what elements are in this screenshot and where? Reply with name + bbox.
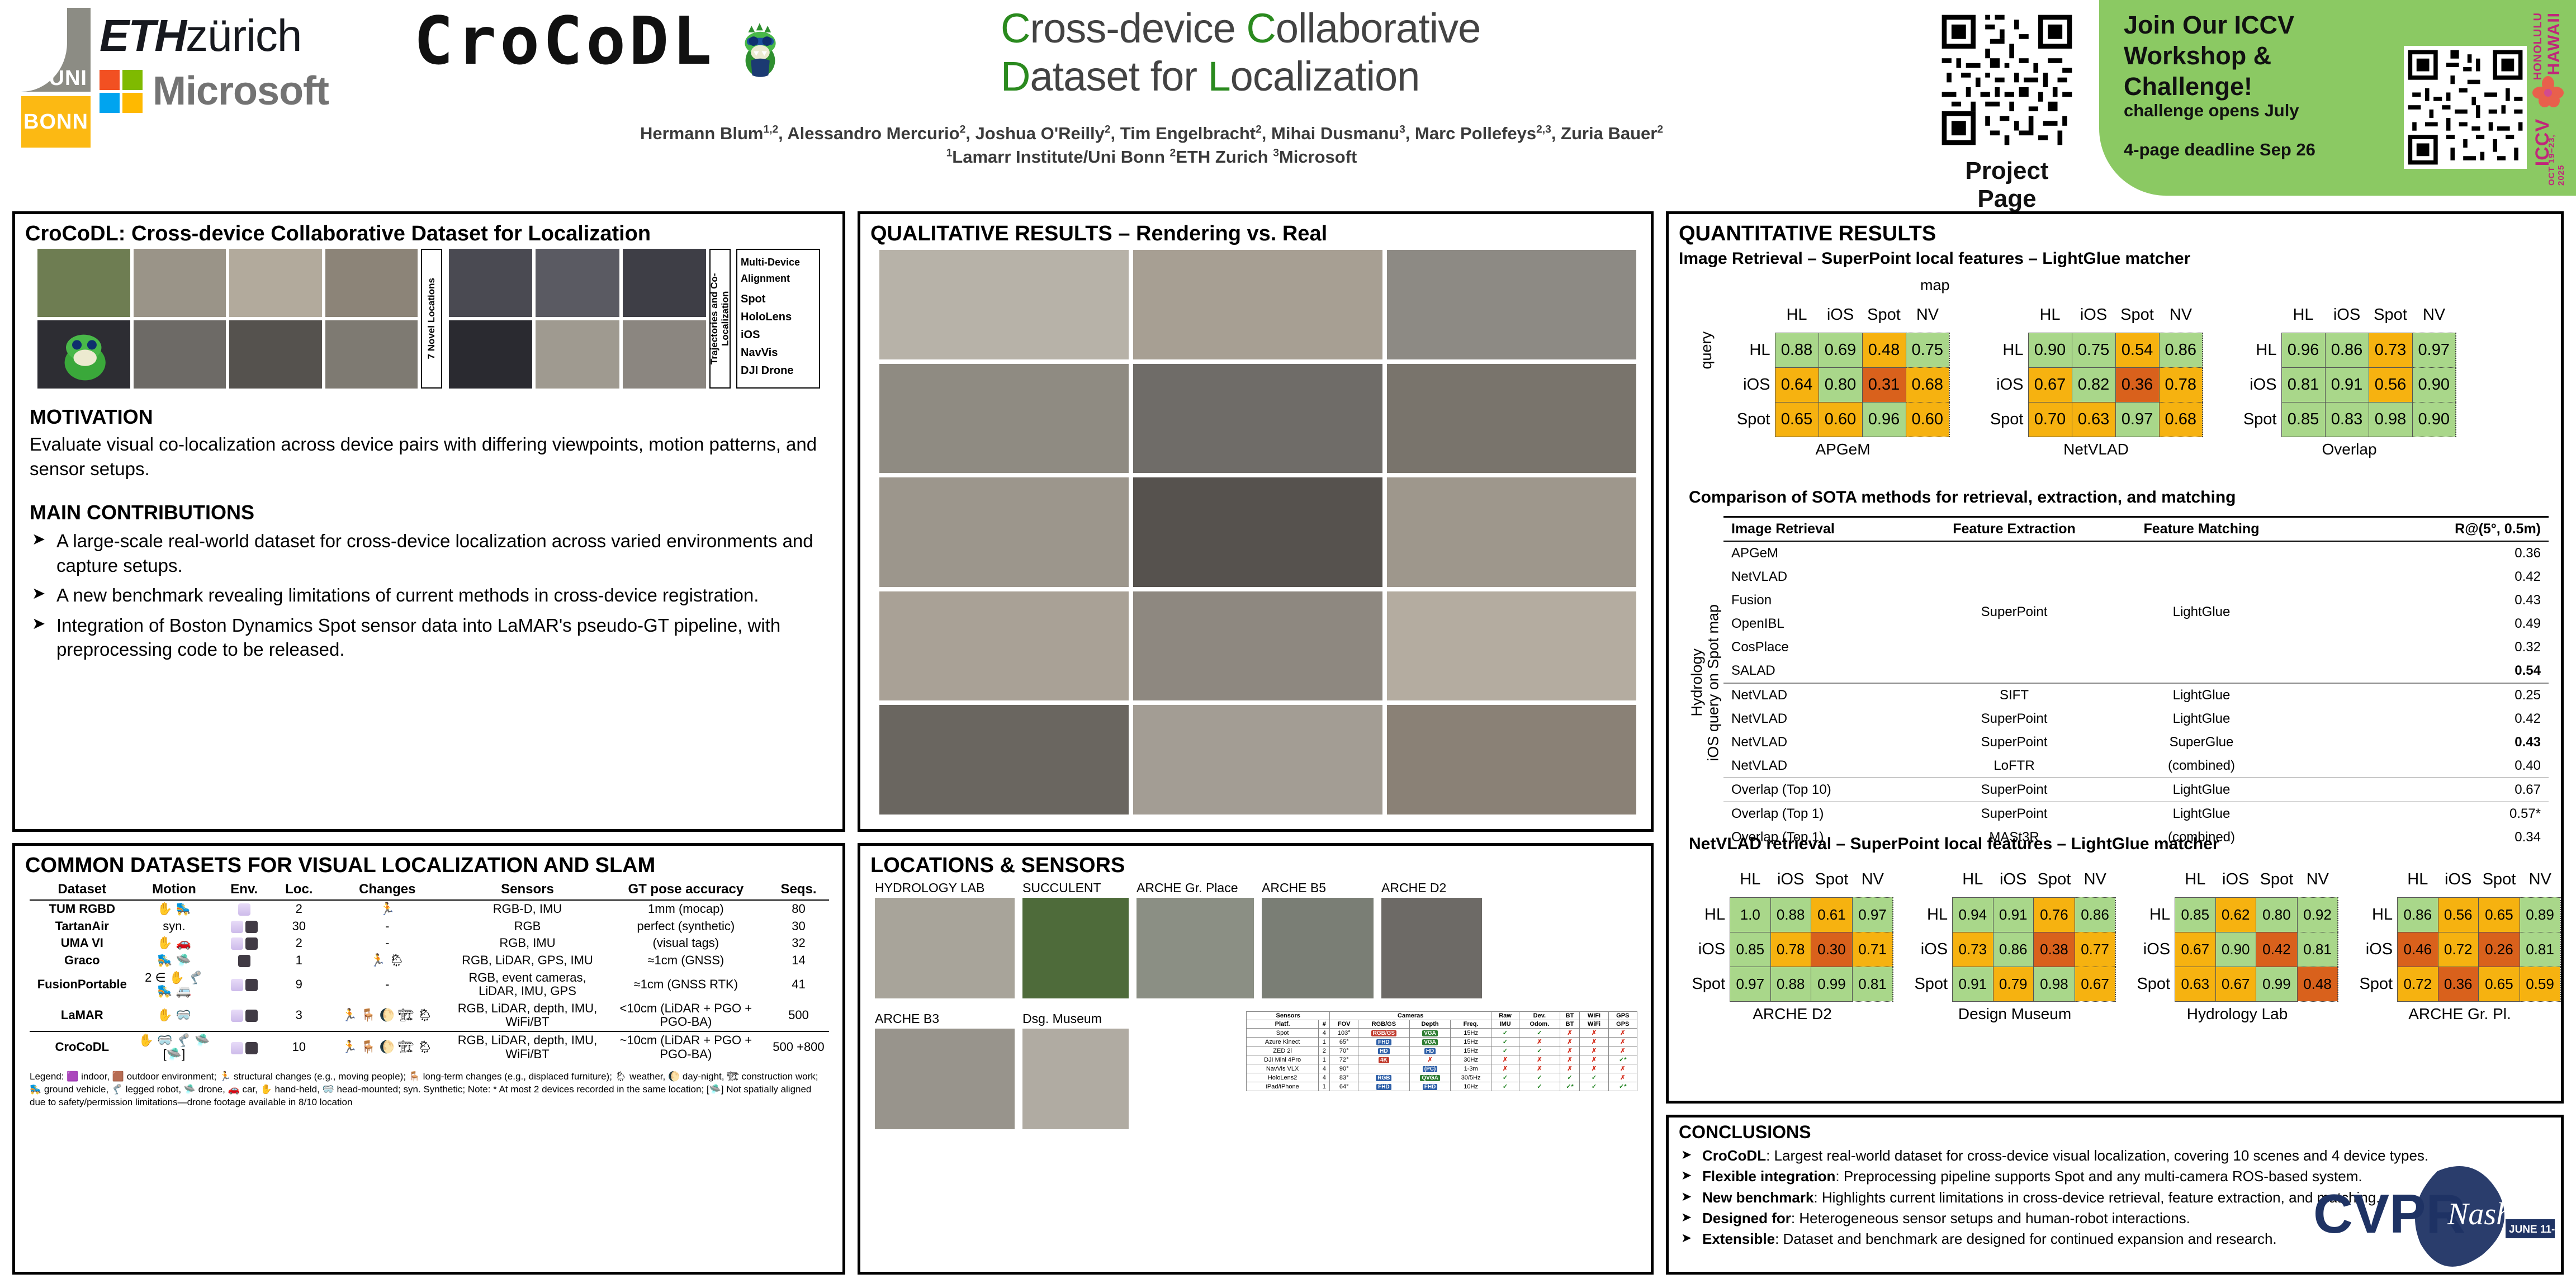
heatmap-cell: 0.85 <box>2281 402 2325 437</box>
iccv-logo-badge: HONOLULU HAWAII ICCV OCT 19–23, 2025 <box>2523 12 2568 186</box>
cell-rgbgs <box>1358 1064 1409 1073</box>
heatmap-cell: 0.94 <box>1953 897 1993 932</box>
cell-gps: ✓* <box>1608 1082 1637 1091</box>
render-vs-real-image <box>1133 477 1382 587</box>
heatmap-cell: 0.86 <box>2075 897 2115 932</box>
cell-image-retrieval: SALAD <box>1723 659 1919 683</box>
cell-dataset: FusionPortable <box>30 969 135 1000</box>
heatmap-cell: 0.97 <box>1852 897 1893 932</box>
heatmap-cell: 0.83 <box>2325 402 2369 437</box>
cell-freq: 10Hz <box>1451 1082 1491 1091</box>
poster-header: UNI BONN ETHzürich Microsoft CroCoDL <box>0 0 2576 206</box>
heatmap-row-header: HL <box>1989 333 2028 367</box>
cell-wifi: ✗ <box>1580 1046 1608 1055</box>
heatmap-cell: 0.36 <box>2438 967 2478 1001</box>
heatmap-cell: 0.68 <box>2159 402 2203 437</box>
heatmap-cell: 0.78 <box>2159 367 2203 402</box>
group-bt: BT <box>1560 1012 1580 1020</box>
cell-wifi: ✓ <box>1580 1082 1608 1091</box>
cell-env <box>214 900 274 918</box>
heatmap-row: Spot0.700.630.970.68 <box>1989 402 2203 437</box>
cell-count: 4 <box>1319 1064 1330 1073</box>
overview-panel: CroCoDL: Cross-device Collaborative Data… <box>12 211 845 832</box>
cell-loc: 30 <box>274 918 323 935</box>
cell-gps: ✗ <box>1608 1064 1637 1073</box>
heatmap-col-header: HL <box>2281 298 2325 333</box>
cell-changes: - <box>323 918 451 935</box>
cell-gps: ✓* <box>1608 1055 1637 1064</box>
heatmap-cell: 0.62 <box>2215 897 2256 932</box>
render-vs-real-image <box>879 250 1129 359</box>
col-seqs: Seqs. <box>768 879 829 900</box>
heatmap-cell: 0.97 <box>2115 402 2159 437</box>
heatmap-col-header: NV <box>2412 298 2456 333</box>
sota-table-row-label: HydrologyiOS query on Spot map <box>1689 604 1722 761</box>
render-vs-real-image <box>1133 364 1382 473</box>
heatmap-map-axis-label: map <box>1920 277 2546 294</box>
col-platf: Platf. <box>1247 1020 1319 1029</box>
heatmap-row: iOS0.730.860.380.77 <box>1914 932 2115 967</box>
iccv-badge-city: HONOLULU <box>2532 12 2545 80</box>
cell-fov: 64° <box>1330 1082 1358 1091</box>
heatmap-cell: 0.31 <box>1862 367 1906 402</box>
heatmap-cell: 0.67 <box>2175 932 2215 967</box>
retrieval-heatmap-row: HLiOSSpotNVHL0.880.690.480.75iOS0.640.80… <box>1736 298 2456 458</box>
cell-wifi: ✗ <box>1580 1064 1608 1073</box>
heatmap-cell: 0.64 <box>1775 367 1819 402</box>
cell-score: 0.49 <box>2294 612 2549 636</box>
table-row: iPad/iPhone164°FHDFHD10Hz✓✓✓*✓✓* <box>1247 1082 1637 1091</box>
cell-image-retrieval: Fusion <box>1723 589 1919 612</box>
heatmap-cell: 0.99 <box>2256 967 2297 1001</box>
cell-imu: ✓ <box>1491 1082 1519 1091</box>
overview-side-label-trajectories-text: Trajectories and Co-Localization <box>709 250 731 387</box>
heatmap-row-header: iOS <box>1989 367 2028 402</box>
location-card: SUCCULENT <box>1022 880 1129 998</box>
heatmap-cell: 0.91 <box>1953 967 1993 1001</box>
heatmap-col-header: HL <box>1730 863 1770 897</box>
cell-freq: 15Hz <box>1451 1029 1491 1038</box>
sota-header-row: Image Retrieval Feature Extraction Featu… <box>1723 517 2549 542</box>
iccv-heading: Join Our ICCV Workshop & Challenge! <box>2124 10 2403 102</box>
locations-panel: LOCATIONS & SENSORS HYDROLOGY LAB SUCCUL… <box>858 843 1654 1275</box>
crocodile-mascot-icon <box>727 12 794 79</box>
table-row: FusionPortable 2 ∈ ✋ 🦿 🛼 🚐 9 - RGB, even… <box>30 969 829 1000</box>
iccv-badge-date: OCT 19–23, 2025 <box>2547 120 2566 186</box>
heatmap-cell: 0.90 <box>2028 333 2072 367</box>
cell-count: 1 <box>1319 1038 1330 1046</box>
cell-depth: FHD <box>1409 1082 1451 1091</box>
heatmap-cell: 0.56 <box>2369 367 2412 402</box>
device-legend-item: DJI Drone <box>741 362 816 380</box>
cell-image-retrieval: OpenIBL <box>1723 612 1919 636</box>
cell-odom: ✗ <box>1519 1064 1560 1073</box>
heatmap-row-header: iOS <box>2136 932 2175 967</box>
cell-gps: ✗ <box>1608 1073 1637 1082</box>
cell-imu: ✗ <box>1491 1055 1519 1064</box>
cell-sensors: RGB, event cameras, LiDAR, IMU, GPS <box>451 969 603 1000</box>
cell-motion: ✋ 🚗 <box>135 935 214 952</box>
cell-fov: 70° <box>1330 1046 1358 1055</box>
col-count: # <box>1319 1020 1330 1029</box>
col-motion: Motion <box>135 879 214 900</box>
heatmap-col-header: Spot <box>2369 298 2412 333</box>
heatmap-cell: 0.59 <box>2520 967 2560 1001</box>
render-vs-real-image <box>1133 591 1382 701</box>
heatmap-row: iOS0.670.900.420.81 <box>2136 932 2338 967</box>
cell-count: 2 <box>1319 1046 1330 1055</box>
cell-gps: ✗ <box>1608 1046 1637 1055</box>
crocodl-acronym: CroCoDL <box>414 4 978 77</box>
cell-fov: 65° <box>1330 1038 1358 1046</box>
motivation-text: Evaluate visual co-localization across d… <box>30 432 829 481</box>
cell-score: 0.40 <box>2294 754 2549 778</box>
heatmap-row: HL0.850.620.800.92 <box>2136 897 2338 932</box>
cvpr-logo: CVPR Nashville JUNE 11-15, 2025 <box>2309 1149 2560 1280</box>
col-feature-matching: Feature Matching <box>2109 517 2294 542</box>
heatmap-cell: 0.81 <box>2297 932 2338 967</box>
cell-gt: 1mm (mocap) <box>604 900 768 918</box>
crocodl-logotype: CroCoDL <box>414 4 978 77</box>
table-row: NetVLADSuperPointSuperGlue0.43 <box>1723 731 2549 754</box>
cell-rgbgs: RGB <box>1358 1073 1409 1082</box>
heatmap-caption: Hydrology Lab <box>2136 1005 2338 1023</box>
cell-fov: 90° <box>1330 1064 1358 1073</box>
location-card: HYDROLOGY LAB <box>875 880 1015 998</box>
cell-image-retrieval: NetVLAD <box>1723 565 1919 589</box>
sensor-table: Sensors Cameras Raw Dev. BT WiFi GPS Pla… <box>1246 1011 1637 1091</box>
location-image <box>875 898 1015 998</box>
cell-platform: Azure Kinect <box>1247 1038 1319 1046</box>
cell-motion: syn. <box>135 918 214 935</box>
heatmap-row: HL0.900.750.540.86 <box>1989 333 2203 367</box>
col-changes: Changes <box>323 879 451 900</box>
heatmap-row-header: HL <box>1691 897 1730 932</box>
cell-freq: 30/5Hz <box>1451 1073 1491 1082</box>
eth-logo-city: zürich <box>186 11 301 60</box>
cell-freq: 30Hz <box>1451 1055 1491 1064</box>
location-image <box>1262 898 1374 998</box>
project-page-label: Project Page <box>1937 157 2077 213</box>
heatmap-cell: 0.97 <box>1730 967 1770 1001</box>
cell-gt: ≈1cm (GNSS) <box>604 952 768 969</box>
microsoft-logo: Microsoft <box>100 68 329 114</box>
heatmap-col-header: HL <box>1775 298 1819 333</box>
cell-count: 1 <box>1319 1055 1330 1064</box>
col-bt: BT <box>1560 1020 1580 1029</box>
thumbnail-image <box>134 249 226 317</box>
heatmap-col-header: NV <box>2159 298 2203 333</box>
table-row: ZED 2i270°HDHD15Hz✓✓✗✗✗ <box>1247 1046 1637 1055</box>
cell-count: 1 <box>1319 1082 1330 1091</box>
location-image <box>1022 1029 1129 1129</box>
uni-bonn-uni-text: UNI <box>49 67 87 91</box>
heatmap-row: HL0.960.860.730.97 <box>2242 333 2456 367</box>
cell-freq: 15Hz <box>1451 1038 1491 1046</box>
heatmap-row: Spot0.970.880.990.81 <box>1691 967 1893 1001</box>
heatmap-cell: 0.90 <box>2215 932 2256 967</box>
heatmap-cell: 0.46 <box>2398 932 2438 967</box>
heatmap-hydrology-lab: HLiOSSpotNVHL0.850.620.800.92iOS0.670.90… <box>2136 863 2338 1023</box>
quantitative-subtitle-1: Image Retrieval – SuperPoint local featu… <box>1679 249 2561 268</box>
cell-freq: 15Hz <box>1451 1046 1491 1055</box>
iccv-workshop-qr-icon[interactable] <box>2404 46 2527 169</box>
heatmap-cell: 0.56 <box>2438 897 2478 932</box>
cell-env <box>214 1000 274 1031</box>
heatmap-row: Spot0.650.600.960.60 <box>1736 402 1949 437</box>
cell-motion: ✋ 🥽 🦿 🛸 [🛸] <box>135 1031 214 1063</box>
hibiscus-flower-icon <box>2531 75 2565 108</box>
heatmap-col-header: NV <box>1852 863 1893 897</box>
cell-feature-matching: LightGlue <box>2109 707 2294 731</box>
overview-side-label-locations: 7 Novel Locations <box>421 249 442 389</box>
cell-odom: ✓ <box>1519 1082 1560 1091</box>
table-row: TUM RGBD ✋ 🛼 2 🏃 RGB-D, IMU 1mm (mocap) … <box>30 900 829 918</box>
table-row: Graco 🛼 🛸 1 🏃 🌦 RGB, LiDAR, GPS, IMU ≈1c… <box>30 952 829 969</box>
cell-fov: 103° <box>1330 1029 1358 1038</box>
heatmap-row-header: Spot <box>1691 967 1730 1001</box>
render-vs-real-image <box>1387 705 1636 815</box>
cell-seqs: 14 <box>768 952 829 969</box>
heatmap-row: HL0.940.910.760.86 <box>1914 897 2115 932</box>
thumbnail-image <box>536 320 619 389</box>
table-row: NetVLADLoFTR(combined)0.40 <box>1723 754 2549 778</box>
cell-rgbgs: HD <box>1358 1046 1409 1055</box>
table-row: Overlap (Top 1)SuperPointLightGlue0.57* <box>1723 802 2549 826</box>
microsoft-squares-icon <box>100 70 143 113</box>
cell-feature-extraction: SuperPoint <box>1919 778 2109 802</box>
cell-loc: 3 <box>274 1000 323 1031</box>
heatmap-row-header: Spot <box>2359 967 2398 1001</box>
cell-sensors: RGB, LiDAR, depth, IMU, WiFi/BT <box>451 1031 603 1063</box>
heatmap-row: Spot0.850.830.980.90 <box>2242 402 2456 437</box>
thumbnail-image <box>449 320 532 389</box>
cell-feature-extraction: SIFT <box>1919 683 2109 707</box>
heatmap-col-header: iOS <box>1770 863 1811 897</box>
cell-bt: ✓* <box>1560 1082 1580 1091</box>
cell-changes: 🏃 🪑 🌔 🏗 🌦 <box>323 1000 451 1031</box>
heatmap-cell: 0.86 <box>2325 333 2369 367</box>
cell-image-retrieval: Overlap (Top 1) <box>1723 802 1919 826</box>
heatmap-cell: 0.48 <box>1862 333 1906 367</box>
heatmap-col-header: HL <box>2398 863 2438 897</box>
contributions-list: A large-scale real-world dataset for cro… <box>30 529 829 662</box>
thumbnail-image <box>229 249 322 317</box>
overview-device-legend: Multi-Device Alignment Spot HoloLens iOS… <box>736 249 820 389</box>
poster-title: Cross-device Collaborative Dataset for L… <box>1001 4 1856 101</box>
cell-loc: 2 <box>274 900 323 918</box>
cell-rgbgs: RGB/GS <box>1358 1029 1409 1038</box>
uni-bonn-logo: UNI BONN <box>21 8 91 148</box>
cell-motion: ✋ 🥽 <box>135 1000 214 1031</box>
heatmap-caption: NetVLAD <box>1989 441 2203 458</box>
heatmap-cell: 0.54 <box>2115 333 2159 367</box>
cell-seqs: 30 <box>768 918 829 935</box>
heatmap-col-header: NV <box>1906 298 1949 333</box>
location-card: ARCHE D2 <box>1381 880 1482 998</box>
render-vs-real-image <box>879 364 1129 473</box>
heatmap-col-header: iOS <box>1819 298 1862 333</box>
table-row: LaMAR ✋ 🥽 3 🏃 🪑 🌔 🏗 🌦 RGB, LiDAR, depth,… <box>30 1000 829 1031</box>
cell-imu: ✗ <box>1491 1064 1519 1073</box>
table-row: NetVLADSIFTLightGlue0.25 <box>1723 683 2549 707</box>
render-vs-real-image <box>1133 250 1382 359</box>
location-image <box>875 1029 1015 1129</box>
cell-changes: - <box>323 969 451 1000</box>
qualitative-panel: QUALITATIVE RESULTS – Rendering vs. Real <box>858 211 1654 832</box>
cell-changes: 🏃 <box>323 900 451 918</box>
heatmap-cell: 0.38 <box>2033 932 2075 967</box>
cell-platform: Spot <box>1247 1029 1319 1038</box>
col-gps: GPS <box>1608 1020 1637 1029</box>
heatmap-cell: 0.36 <box>2115 367 2159 402</box>
heatmap-query-axis-label: query <box>1698 332 1715 373</box>
cell-dataset: CroCoDL <box>30 1031 135 1063</box>
heatmap-caption: Design Museum <box>1914 1005 2116 1023</box>
cell-gt: perfect (synthetic) <box>604 918 768 935</box>
location-image <box>1137 898 1254 998</box>
iccv-workshop-banner: Join Our ICCV Workshop & Challenge! chal… <box>2099 0 2576 196</box>
heatmap-cell: 0.98 <box>2033 967 2075 1001</box>
heatmap-row: iOS0.810.910.560.90 <box>2242 367 2456 402</box>
cell-score: 0.42 <box>2294 707 2549 731</box>
table-row: NetVLADSuperPointLightGlue0.42 <box>1723 707 2549 731</box>
cell-score: 0.43 <box>2294 731 2549 754</box>
heatmap-row: iOS0.670.820.360.78 <box>1989 367 2203 402</box>
heatmap-col-header: NV <box>2075 863 2115 897</box>
heatmap-col-header: NV <box>2520 863 2560 897</box>
col-imu: IMU <box>1491 1020 1519 1029</box>
location-caption: SUCCULENT <box>1022 880 1129 896</box>
cell-gt: (visual tags) <box>604 935 768 952</box>
cell-wifi: ✗ <box>1580 1055 1608 1064</box>
heatmap-row-header: Spot <box>2242 402 2281 437</box>
heatmap-row-header: Spot <box>1736 402 1775 437</box>
project-page-qr-block[interactable]: Project Page <box>1937 10 2077 213</box>
uni-bonn-bonn-band: BONN <box>21 96 91 148</box>
cell-feature-matching: LightGlue <box>2109 683 2294 707</box>
heatmap-col-header: NV <box>2297 863 2338 897</box>
uni-bonn-bonn-text: BONN <box>21 96 91 148</box>
render-vs-real-image <box>1387 477 1636 587</box>
table-row: NavVis VLX490°(PC)1-3m✗✗✗✗✗ <box>1247 1064 1637 1073</box>
render-vs-real-image <box>1387 364 1636 473</box>
cell-score: 0.57* <box>2294 802 2549 826</box>
location-card: ARCHE Gr. Place <box>1137 880 1254 998</box>
heatmap-row-header: Spot <box>1914 967 1953 1001</box>
heatmap-cell: 0.92 <box>2297 897 2338 932</box>
per-scene-heatmap-row: HLiOSSpotNVHL1.00.880.610.97iOS0.850.780… <box>1691 863 2561 1023</box>
cell-feature-extraction: SuperPoint <box>1919 541 2109 683</box>
heatmap-cell: 0.81 <box>2281 367 2325 402</box>
heatmap-cell: 0.78 <box>1770 932 1811 967</box>
cell-loc: 2 <box>274 935 323 952</box>
cell-odom: ✓ <box>1519 1046 1560 1055</box>
project-page-qr-icon[interactable] <box>1937 10 2077 150</box>
author-block: Hermann Blum1,2, Alessandro Mercurio2, J… <box>453 122 1850 169</box>
group-gps: GPS <box>1608 1012 1637 1020</box>
quantitative-subtitle-2: Comparison of SOTA methods for retrieval… <box>1689 488 2236 507</box>
conclusions-title: CONCLUSIONS <box>1679 1122 2561 1143</box>
cell-changes: 🏃 🪑 🌔 🏗 🌦 <box>323 1031 451 1063</box>
cell-score: 0.42 <box>2294 565 2549 589</box>
heatmap-row: iOS0.850.780.300.71 <box>1691 932 1893 967</box>
table-row: UMA VI ✋ 🚗 2 - RGB, IMU (visual tags) 32 <box>30 935 829 952</box>
heatmap-cell: 0.81 <box>1852 967 1893 1001</box>
cell-feature-matching: LightGlue <box>2109 541 2294 683</box>
col-feature-extraction: Feature Extraction <box>1919 517 2109 542</box>
heatmap-cell: 0.42 <box>2256 932 2297 967</box>
overview-location-thumbnails <box>37 249 418 389</box>
heatmap-arche-d2: HLiOSSpotNVHL1.00.880.610.97iOS0.850.780… <box>1691 863 1893 1023</box>
svg-text:JUNE 11-15, 2025: JUNE 11-15, 2025 <box>2509 1224 2560 1235</box>
heatmap-cell: 0.67 <box>2028 367 2072 402</box>
cell-image-retrieval: NetVLAD <box>1723 731 1919 754</box>
cell-env <box>214 1031 274 1063</box>
cell-bt: ✗ <box>1560 1038 1580 1046</box>
cell-rgbgs: FHD <box>1358 1082 1409 1091</box>
cell-depth: VGA <box>1409 1038 1451 1046</box>
cell-rgbgs: 4K <box>1358 1055 1409 1064</box>
cell-score: 0.43 <box>2294 589 2549 612</box>
title-line-2: Dataset for Localization <box>1001 53 1856 101</box>
heatmap-cell: 0.86 <box>1993 932 2033 967</box>
thumbnail-image <box>623 320 706 389</box>
heatmap-row: iOS0.460.720.260.81 <box>2359 932 2560 967</box>
cell-loc: 1 <box>274 952 323 969</box>
heatmap-overlap: HLiOSSpotNVHL0.960.860.730.97iOS0.810.91… <box>2242 298 2456 458</box>
heatmap-col-header: iOS <box>2325 298 2369 333</box>
col-wifi: WiFi <box>1580 1020 1608 1029</box>
cell-image-retrieval: NetVLAD <box>1723 683 1919 707</box>
location-caption: HYDROLOGY LAB <box>875 880 1015 896</box>
cell-bt: ✗ <box>1560 1064 1580 1073</box>
location-caption: ARCHE B3 <box>875 1011 1015 1026</box>
cell-score: 0.67 <box>2294 778 2549 802</box>
cell-rgbgs: FHD <box>1358 1038 1409 1046</box>
cell-depth: VGA <box>1409 1029 1451 1038</box>
heatmap-col-header: iOS <box>2072 298 2115 333</box>
heatmap-row: iOS0.640.800.310.68 <box>1736 367 1949 402</box>
heatmap-cell: 0.86 <box>2398 897 2438 932</box>
group-raw: Raw <box>1491 1012 1519 1020</box>
cell-dataset: TartanAir <box>30 918 135 935</box>
col-dataset: Dataset <box>30 879 135 900</box>
quantitative-title: QUANTITATIVE RESULTS <box>1679 222 2561 246</box>
cell-fov: 72° <box>1330 1055 1358 1064</box>
heatmap-caption: ARCHE D2 <box>1691 1005 1893 1023</box>
heatmap-cell: 0.60 <box>1819 402 1862 437</box>
overview-device-legend-title: Multi-Device Alignment <box>741 254 816 287</box>
cell-sensors: RGB <box>451 918 603 935</box>
heatmap-cell: 0.79 <box>1993 967 2033 1001</box>
location-card: Dsg. Museum <box>1022 1011 1129 1129</box>
heatmap-cell: 0.97 <box>2412 333 2456 367</box>
cell-odom: ✗ <box>1519 1038 1560 1046</box>
table-row: HoloLens2483°RGBQVGA30/5Hz✓✓✓✓✗ <box>1247 1073 1637 1082</box>
render-vs-real-image <box>879 591 1129 701</box>
device-legend-item: iOS <box>741 326 816 344</box>
poster-root: UNI BONN ETHzürich Microsoft CroCoDL <box>0 0 2576 1288</box>
datasets-legend: Legend: 🟪 indoor, 🟫 outdoor environment;… <box>30 1071 829 1109</box>
group-dev: Dev. <box>1519 1012 1560 1020</box>
location-caption: Dsg. Museum <box>1022 1011 1129 1026</box>
cell-freq: 1-3m <box>1451 1064 1491 1073</box>
thumbnail-image <box>325 249 418 317</box>
heatmap-netvlad: HLiOSSpotNVHL0.900.750.540.86iOS0.670.82… <box>1989 298 2203 458</box>
heatmap-cell: 0.98 <box>2369 402 2412 437</box>
thumbnail-image <box>37 249 130 317</box>
